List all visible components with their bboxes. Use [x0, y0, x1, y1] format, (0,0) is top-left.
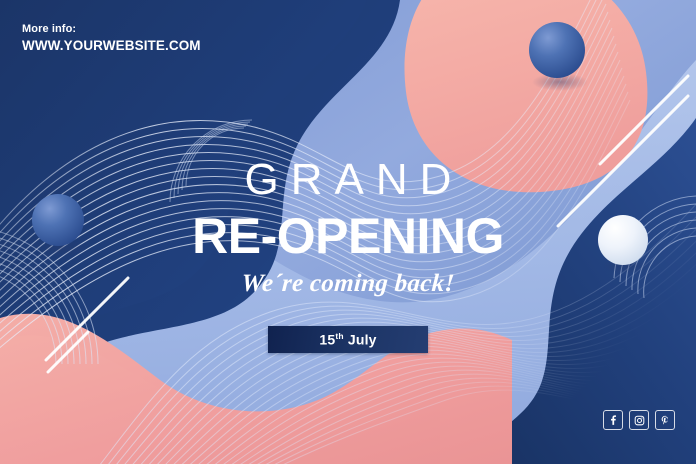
- date-month: July: [348, 332, 377, 348]
- reopening-banner: More info: WWW.YOURWEBSITE.COM GRAND RE-…: [0, 0, 696, 464]
- pinterest-icon[interactable]: [655, 410, 675, 430]
- date-day: 15: [319, 332, 335, 348]
- date-badge-text: 15th July: [319, 331, 376, 348]
- website-url[interactable]: WWW.YOURWEBSITE.COM: [22, 37, 201, 55]
- more-info-block: More info: WWW.YOURWEBSITE.COM: [22, 22, 201, 55]
- more-info-label: More info:: [22, 22, 201, 37]
- date-ordinal: th: [335, 331, 343, 341]
- social-links: [603, 410, 675, 430]
- background-art: [0, 0, 696, 464]
- facebook-icon[interactable]: [603, 410, 623, 430]
- instagram-icon[interactable]: [629, 410, 649, 430]
- date-badge[interactable]: 15th July: [268, 326, 428, 353]
